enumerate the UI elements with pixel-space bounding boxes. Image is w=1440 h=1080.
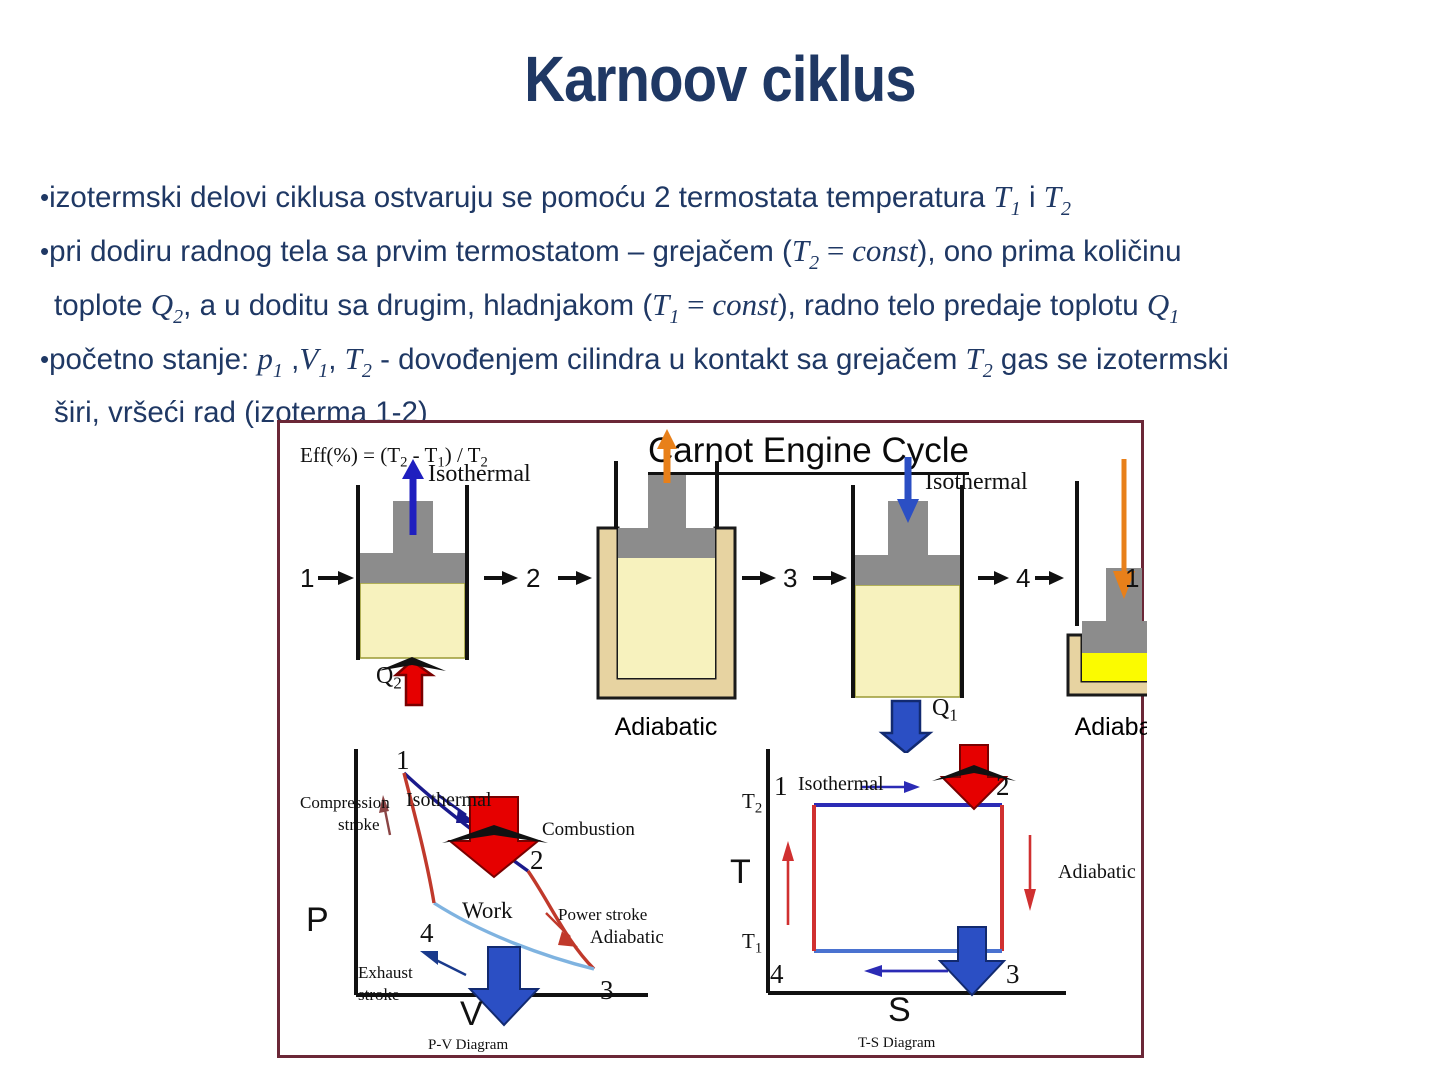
- text-segment: 2: [173, 306, 183, 328]
- ts-temp-low-subscript: 1: [755, 941, 762, 957]
- bullet-item: •izotermski delovi ciklusa ostvaruju se …: [40, 176, 1410, 230]
- step-label-1-return: 1: [1125, 563, 1139, 594]
- ts-right-arrow-icon: [1024, 835, 1036, 911]
- ts-ylabel: T: [730, 853, 751, 892]
- heat-output-label: Q1: [932, 695, 958, 725]
- text-segment: , a u doditu sa drugim, hladnjakom (: [183, 289, 652, 322]
- step-label-2: 2: [526, 563, 540, 594]
- text-segment: Q: [1147, 287, 1169, 322]
- ts-xlabel: S: [888, 991, 911, 1030]
- text-segment: ), radno telo predaje toplotu: [778, 289, 1147, 322]
- text-segment: T: [652, 287, 669, 322]
- ts-temp-high-symbol: T: [742, 789, 755, 813]
- label-isothermal-expansion: Isothermal: [428, 461, 531, 488]
- text-segment: T: [1044, 179, 1061, 214]
- pv-annotation-compression-1: Compression: [300, 793, 390, 812]
- pv-caption: P-V Diagram: [428, 1037, 508, 1054]
- text-segment: 2: [809, 252, 819, 274]
- text-segment: i: [1021, 181, 1044, 214]
- text-segment: 1: [669, 306, 679, 328]
- text-segment: const: [712, 287, 777, 322]
- text-segment: V: [299, 341, 318, 376]
- pv-ylabel: P: [306, 901, 329, 940]
- pv-annotation-compression-2: stroke: [338, 815, 380, 834]
- ts-temp-high-subscript: 2: [755, 801, 762, 817]
- ts-temp-high-label: T2: [742, 789, 762, 818]
- bullet-marker: •: [40, 344, 49, 374]
- bullet-continuation: toplote Q2, a u doditu sa drugim, hladnj…: [40, 284, 1410, 338]
- ts-temp-low-symbol: T: [742, 929, 755, 953]
- pv-point-1: 1: [396, 745, 410, 776]
- ts-point-3: 3: [1006, 959, 1020, 990]
- text-segment: 2: [983, 360, 993, 382]
- label-isothermal-compression: Isothermal: [925, 469, 1028, 496]
- ts-point-1: 1: [774, 771, 788, 802]
- text-segment: 1: [1169, 306, 1179, 328]
- text-segment: pri dodiru radnog tela sa prvim termosta…: [49, 235, 792, 268]
- text-segment: ), ono prima količinu: [918, 235, 1182, 268]
- pv-xlabel: V: [460, 995, 483, 1034]
- page-title: Karnoov ciklus: [86, 46, 1353, 113]
- ts-annotation-adiabatic: Adiabatic: [1058, 863, 1136, 882]
- text-segment: ,: [283, 343, 299, 376]
- text-segment: T: [994, 179, 1011, 214]
- text-segment: 1: [273, 360, 283, 382]
- bullet-marker: •: [40, 182, 49, 212]
- text-segment: ,: [328, 343, 344, 376]
- flow-arrow-in-1: [318, 571, 354, 585]
- pv-point-4: 4: [420, 918, 434, 949]
- bullet-marker: •: [40, 236, 49, 266]
- work-output-arrow-icon: [657, 429, 677, 483]
- ts-left-arrow-icon: [782, 841, 794, 925]
- q-in-subscript: 2: [393, 673, 401, 692]
- bullet-item: •pri dodiru radnog tela sa prvim termost…: [40, 230, 1410, 284]
- bullet-item: •početno stanje: p1 ,V1, T2 - dovođenjem…: [40, 338, 1410, 392]
- step-label-1: 1: [300, 563, 314, 594]
- cylinder-adiabatic-expansion: [598, 461, 735, 698]
- text-segment: gas se izotermski: [993, 343, 1229, 376]
- ts-point-2: 2: [996, 771, 1010, 802]
- ts-point-4: 4: [770, 959, 784, 990]
- bullet-list: •izotermski delovi ciklusa ostvaruju se …: [40, 176, 1410, 434]
- ts-bottom-arrow-icon: [864, 965, 948, 977]
- pv-point-2: 2: [530, 845, 544, 876]
- ts-caption: T-S Diagram: [858, 1035, 935, 1052]
- ts-temp-low-label: T1: [742, 929, 762, 958]
- cylinder-b-caption: Adiabatic: [615, 713, 718, 741]
- pv-annotation-combustion: Combustion: [542, 820, 635, 839]
- q-in-symbol: Q: [376, 663, 393, 689]
- text-segment: T: [345, 341, 362, 376]
- text-segment: =: [819, 233, 852, 268]
- ts-heat-output-arrow-icon: [940, 927, 1004, 995]
- ts-annotation-isothermal: Isothermal: [798, 775, 884, 794]
- pv-annotation-work: Work: [462, 901, 513, 920]
- carnot-cycle-figure: Eff(%) = (T2 - T1) / T2 Carnot Engine Cy…: [277, 420, 1144, 1058]
- exhaust-stroke-arrow-icon: [420, 951, 466, 975]
- step-label-4: 4: [1016, 563, 1030, 594]
- heat-input-label: Q2: [376, 663, 402, 693]
- text-segment: 1: [318, 360, 328, 382]
- pv-point-3: 3: [600, 975, 614, 1006]
- text-segment: početno stanje:: [49, 343, 257, 376]
- text-segment: - dovođenjem cilindra u kontakt sa greja…: [372, 343, 966, 376]
- text-segment: izotermski delovi ciklusa ostvaruju se p…: [49, 181, 993, 214]
- text-segment: const: [852, 233, 917, 268]
- pv-annotation-exhaust-2: stroke: [358, 985, 400, 1004]
- q-out-symbol: Q: [932, 695, 949, 721]
- text-segment: T: [965, 341, 982, 376]
- q-out-subscript: 1: [949, 705, 957, 724]
- text-segment: 1: [1011, 198, 1021, 220]
- step-label-3: 3: [783, 563, 797, 594]
- text-segment: toplote: [54, 289, 151, 322]
- text-segment: =: [679, 287, 712, 322]
- pv-annotation-exhaust-1: Exhaust: [358, 963, 413, 982]
- pv-annotation-adiabatic: Adiabatic: [590, 928, 664, 947]
- pv-annotation-power-stroke: Power stroke: [558, 905, 647, 924]
- text-segment: 2: [362, 360, 372, 382]
- text-segment: T: [792, 233, 809, 268]
- text-segment: Q: [151, 287, 173, 322]
- text-segment: p: [257, 341, 273, 376]
- text-segment: 2: [1061, 198, 1071, 220]
- pv-annotation-isothermal: Isothermal: [406, 791, 492, 810]
